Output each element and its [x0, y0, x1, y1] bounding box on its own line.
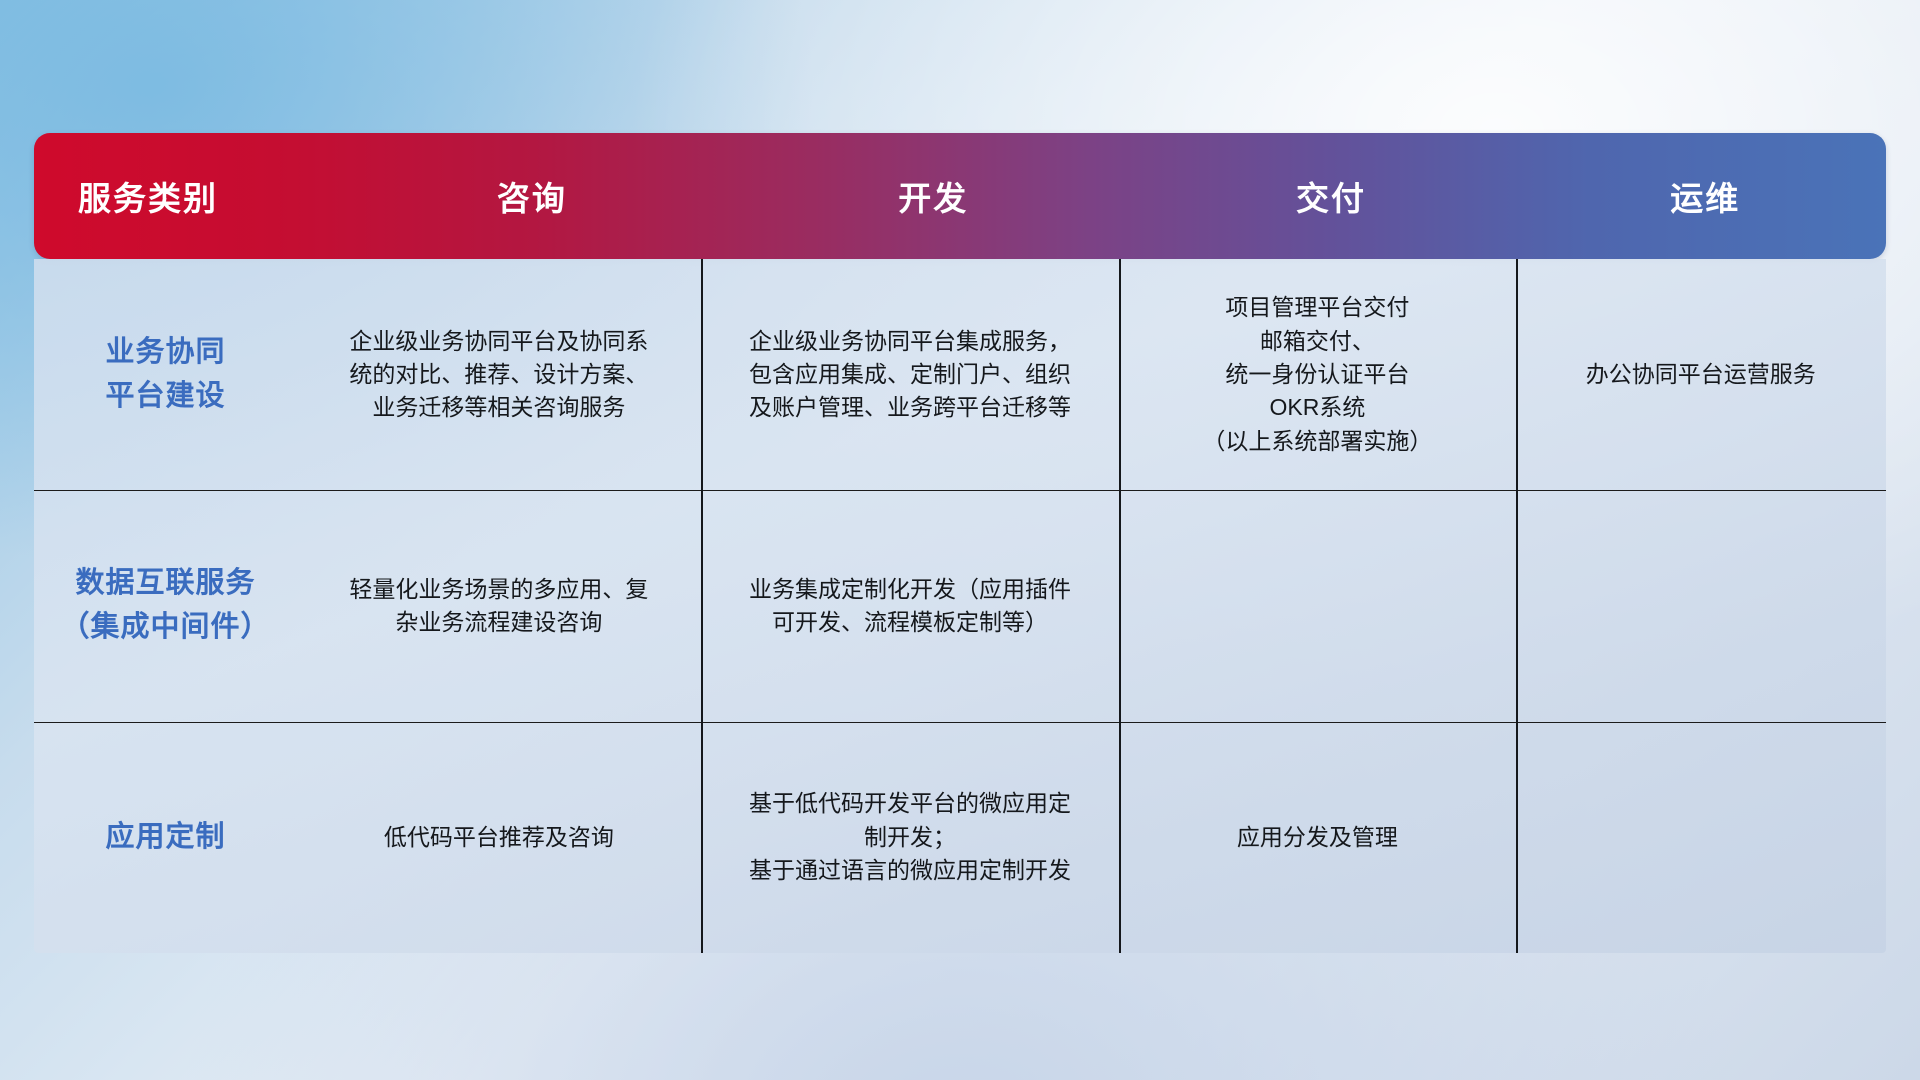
table-row: 业务协同 平台建设 企业级业务协同平台及协同系 统的对比、推荐、设计方案、 业务…: [34, 259, 1886, 490]
column-header-operations: 运维: [1524, 133, 1886, 259]
table-row: 应用定制 低代码平台推荐及咨询 基于低代码开发平台的微应用定 制开发； 基于通过…: [34, 722, 1886, 953]
service-matrix-table: 服务类别 咨询 开发 交付 运维 业务协同 平台建设 企业级业务协同平台及协同系…: [34, 133, 1886, 953]
table-body: 业务协同 平台建设 企业级业务协同平台及协同系 统的对比、推荐、设计方案、 业务…: [34, 259, 1886, 953]
cell-consulting: 企业级业务协同平台及协同系 统的对比、推荐、设计方案、 业务迁移等相关咨询服务: [297, 259, 701, 490]
table-row: 数据互联服务 （集成中间件） 轻量化业务场景的多应用、复 杂业务流程建设咨询 业…: [34, 490, 1886, 721]
row-category-label: 业务协同 平台建设: [34, 259, 297, 490]
cell-operations: [1516, 722, 1886, 953]
table-header-row: 服务类别 咨询 开发 交付 运维: [34, 133, 1886, 259]
row-category-label: 数据互联服务 （集成中间件）: [34, 490, 297, 721]
cell-development: 业务集成定制化开发（应用插件 可开发、流程模板定制等）: [701, 490, 1120, 721]
column-header-consulting: 咨询: [335, 133, 729, 259]
column-header-category: 服务类别: [34, 133, 335, 259]
column-header-delivery: 交付: [1138, 133, 1525, 259]
cell-delivery: [1119, 490, 1515, 721]
cell-operations: 办公协同平台运营服务: [1516, 259, 1886, 490]
cell-consulting: 低代码平台推荐及咨询: [297, 722, 701, 953]
column-header-development: 开发: [729, 133, 1138, 259]
cell-development: 基于低代码开发平台的微应用定 制开发； 基于通过语言的微应用定制开发: [701, 722, 1120, 953]
slide-canvas: 服务类别 咨询 开发 交付 运维 业务协同 平台建设 企业级业务协同平台及协同系…: [0, 0, 1920, 1080]
cell-operations: [1516, 490, 1886, 721]
row-category-label: 应用定制: [34, 722, 297, 953]
cell-delivery: 应用分发及管理: [1119, 722, 1515, 953]
cell-delivery: 项目管理平台交付 邮箱交付、 统一身份认证平台 OKR系统 （以上系统部署实施）: [1119, 259, 1515, 490]
cell-development: 企业级业务协同平台集成服务， 包含应用集成、定制门户、组织 及账户管理、业务跨平…: [701, 259, 1120, 490]
cell-consulting: 轻量化业务场景的多应用、复 杂业务流程建设咨询: [297, 490, 701, 721]
